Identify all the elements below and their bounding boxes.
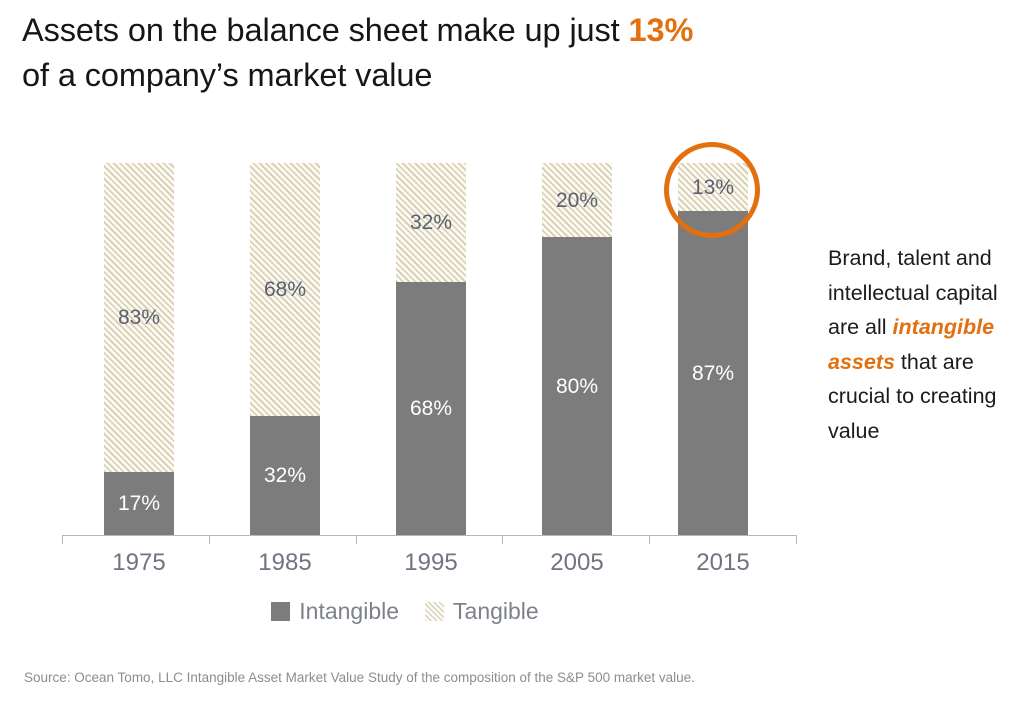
x-axis-tick-2	[356, 535, 357, 544]
x-axis-tick-4	[649, 535, 650, 544]
x-axis-tick-1	[209, 535, 210, 544]
bar-label-tangible-1985: 68%	[264, 279, 306, 300]
stacked-bar-chart: 83% 17% 68% 32% 32% 68%	[0, 0, 810, 650]
bar-group-2015[interactable]: 13% 87%	[678, 163, 748, 535]
legend-label-intangible: Intangible	[299, 598, 399, 625]
legend-swatch-tangible-icon	[425, 602, 444, 621]
x-axis-tick-5	[796, 535, 797, 544]
bar-label-intangible-1995: 68%	[410, 398, 452, 419]
bar-segment-intangible-1985: 32%	[250, 416, 320, 535]
logo-watermark: ·· ······ ·	[845, 694, 891, 701]
x-axis-tick-3	[502, 535, 503, 544]
bar-label-intangible-2005: 80%	[556, 376, 598, 397]
legend-item-tangible[interactable]: Tangible	[425, 598, 539, 625]
source-citation: Source: Ocean Tomo, LLC Intangible Asset…	[24, 670, 695, 685]
bar-label-intangible-1985: 32%	[264, 465, 306, 486]
bar-label-intangible-1975: 17%	[118, 493, 160, 514]
bar-segment-tangible-2015: 13%	[678, 163, 748, 211]
bar-label-tangible-2015: 13%	[692, 177, 734, 198]
bar-segment-tangible-1975: 83%	[104, 163, 174, 472]
x-axis-label-2015: 2015	[663, 549, 783, 577]
legend-swatch-intangible-icon	[271, 602, 290, 621]
x-axis-label-1985: 1985	[225, 549, 345, 577]
bar-segment-intangible-2005: 80%	[542, 237, 612, 535]
legend-item-intangible[interactable]: Intangible	[271, 598, 399, 625]
bar-label-tangible-1975: 83%	[118, 307, 160, 328]
bar-label-tangible-2005: 20%	[556, 190, 598, 211]
bar-label-intangible-2015: 87%	[692, 363, 734, 384]
slide-canvas: Assets on the balance sheet make up just…	[0, 0, 1024, 701]
bar-segment-tangible-1995: 32%	[396, 163, 466, 282]
x-axis-line	[62, 535, 796, 536]
x-axis-label-1995: 1995	[371, 549, 491, 577]
bar-group-1975[interactable]: 83% 17%	[104, 163, 174, 535]
x-axis-tick-0	[62, 535, 63, 544]
bar-segment-intangible-1975: 17%	[104, 472, 174, 535]
bar-group-2005[interactable]: 20% 80%	[542, 163, 612, 535]
bar-segment-intangible-2015: 87%	[678, 211, 748, 535]
bar-segment-tangible-2005: 20%	[542, 163, 612, 237]
x-axis-label-1975: 1975	[79, 549, 199, 577]
x-axis-label-2005: 2005	[517, 549, 637, 577]
side-note-text: Brand, talent and intellectual capital a…	[828, 241, 1018, 448]
bar-group-1995[interactable]: 32% 68%	[396, 163, 466, 535]
legend-label-tangible: Tangible	[453, 598, 539, 625]
bar-segment-intangible-1995: 68%	[396, 282, 466, 535]
chart-legend: Intangible Tangible	[0, 598, 810, 625]
bar-group-1985[interactable]: 68% 32%	[250, 163, 320, 535]
bar-label-tangible-1995: 32%	[410, 212, 452, 233]
bar-segment-tangible-1985: 68%	[250, 163, 320, 416]
